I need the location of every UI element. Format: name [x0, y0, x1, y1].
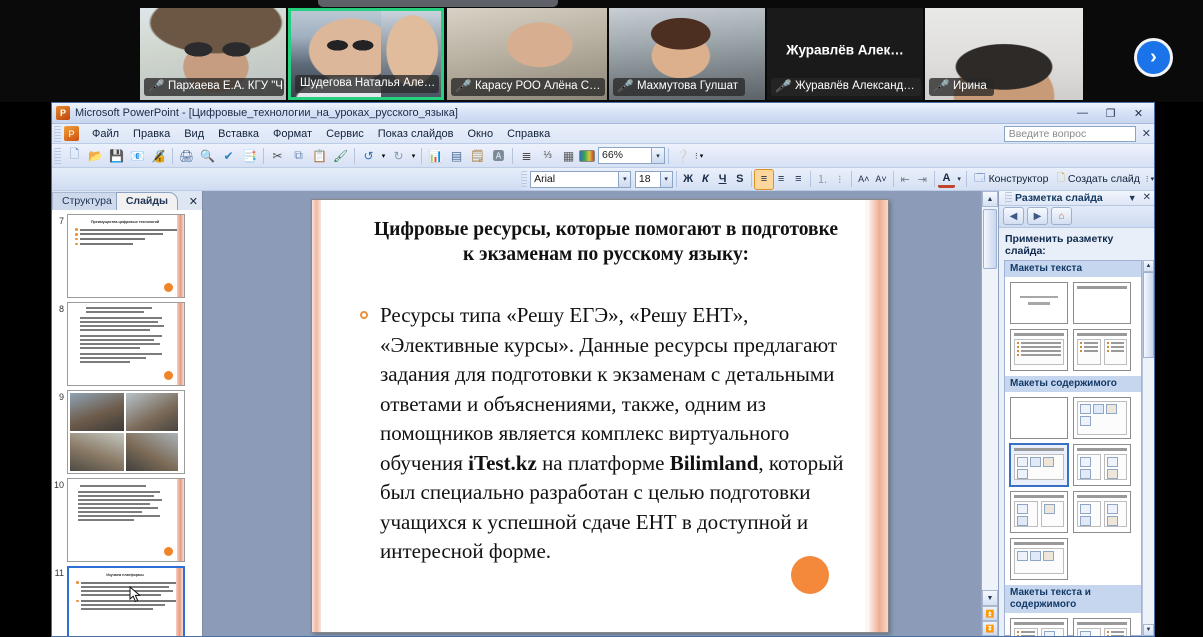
- undo-icon[interactable]: ↺: [358, 146, 379, 166]
- task-pane-scroll-thumb[interactable]: [1143, 272, 1154, 358]
- task-pane-title: Разметка слайда: [1015, 192, 1103, 204]
- participant-nametag-2: Шудегова Наталья Але…: [295, 75, 439, 93]
- thumbnail-bullet-11-2: [76, 600, 176, 603]
- grow-font-icon[interactable]: A˄: [855, 170, 872, 189]
- thumbnail-photo-9-2: [126, 393, 178, 431]
- slide-layout-task-pane: Разметка слайда ▼ ✕ ◀ ▶ ⌂ Применить разм…: [998, 191, 1154, 636]
- mic-muted-icon-3: 🎤: [454, 79, 472, 94]
- editor-body: Структура Слайды ✕ 7 Преимущества цифров…: [52, 191, 1154, 636]
- title-and-content-5-layout[interactable]: [1010, 538, 1068, 580]
- undo-dropdown-icon[interactable]: ▾: [379, 146, 388, 166]
- menu-item-tools[interactable]: Сервис: [319, 126, 371, 142]
- menu-item-slideshow[interactable]: Показ слайдов: [371, 126, 461, 142]
- title-and-content-layout[interactable]: [1010, 444, 1068, 486]
- task-pane-scroll-down[interactable]: ▼: [1143, 624, 1154, 636]
- slide-body-placeholder[interactable]: Ресурсы типа «Решу ЕГЭ», «Решу ЕНТ», «Эл…: [356, 301, 848, 567]
- document-icon: P: [64, 126, 79, 141]
- align-right-icon[interactable]: ≡: [790, 170, 807, 189]
- open-folder-icon[interactable]: 📂: [85, 146, 106, 166]
- design-button-label: Конструктор: [989, 173, 1049, 185]
- menu-item-insert[interactable]: Вставка: [211, 126, 266, 142]
- menu-bar: P Файл Правка Вид Вставка Формат Сервис …: [52, 124, 1154, 144]
- new-slide-button[interactable]: 🗋 Создать слайд: [1052, 169, 1143, 189]
- line-spacing-icon[interactable]: ≣: [516, 146, 537, 166]
- powerpoint-window: P Microsoft PowerPoint - [Цифровые_техно…: [51, 102, 1155, 637]
- tab-outline[interactable]: Структура: [52, 192, 122, 210]
- slide-right-border-decoration: [869, 200, 888, 632]
- forward-icon[interactable]: ▶: [1027, 207, 1048, 225]
- title-and-content-3-layout[interactable]: [1010, 491, 1068, 533]
- slide-body-text: Ресурсы типа «Решу ЕГЭ», «Решу ЕНТ», «Эл…: [356, 301, 848, 567]
- fmt-separator-7: [966, 171, 967, 187]
- menu-drag-handle[interactable]: [54, 126, 61, 142]
- thumbnail-textblock-10: [76, 485, 168, 521]
- design-icon: 🗔: [974, 170, 985, 188]
- font-color-icon[interactable]: A: [938, 171, 955, 188]
- menu-item-edit[interactable]: Правка: [126, 126, 177, 142]
- toolbar-separator-1: [172, 148, 173, 164]
- body-part-4: Bilimland: [670, 451, 759, 475]
- permission-icon[interactable]: 🔏: [148, 146, 169, 166]
- font-name-dropdown-icon[interactable]: ▾: [619, 171, 631, 188]
- thumbnail-textblock-8: [76, 307, 170, 363]
- video-conference-strip: 🎤 Пархаева Е.А. КГУ "Ч… Шудегова Наталья…: [0, 0, 1203, 102]
- bold-button[interactable]: Ж: [680, 170, 697, 189]
- body-part-2: iTest.kz: [468, 451, 537, 475]
- align-left-icon[interactable]: ≡: [755, 170, 772, 189]
- thumbnail-dot-10: [164, 547, 173, 556]
- task-pane-nav: ◀ ▶ ⌂: [999, 206, 1154, 228]
- fmt-separator-2: [751, 171, 752, 187]
- restore-button[interactable]: ❐: [1097, 105, 1124, 122]
- standard-toolbar-handle[interactable]: [54, 148, 61, 164]
- title-and-two-column-layout[interactable]: [1073, 329, 1131, 371]
- thumbnail-number-11: 11: [54, 566, 67, 578]
- thumbnail-photo-9-4: [126, 433, 178, 471]
- participant-name-5: Журавлёв Александ…: [795, 79, 915, 94]
- menu-item-format[interactable]: Формат: [266, 126, 319, 142]
- content-and-text-layout[interactable]: [1073, 618, 1131, 636]
- thumbnail-number-7: 7: [54, 214, 67, 226]
- scroll-thumb[interactable]: [983, 209, 997, 269]
- participant-name-2: Шудегова Наталья Але…: [300, 76, 435, 91]
- thumbnail-number-9: 9: [54, 390, 67, 402]
- research-icon[interactable]: 📑: [239, 146, 260, 166]
- thumbnail-dot-8: [164, 371, 173, 380]
- layout-list[interactable]: Макеты текста: [1004, 260, 1142, 636]
- window-title: Microsoft PowerPoint - [Цифровые_техноло…: [75, 107, 458, 119]
- title-bar[interactable]: P Microsoft PowerPoint - [Цифровые_техно…: [52, 103, 1154, 124]
- bulleted-list-icon[interactable]: ⁝: [831, 170, 848, 189]
- thumbnail-row-10[interactable]: 10: [52, 474, 202, 562]
- formatting-toolbar-spacer: [52, 168, 521, 190]
- close-button[interactable]: ✕: [1125, 105, 1152, 122]
- blank-layout[interactable]: [1010, 397, 1068, 439]
- color-scheme-icon[interactable]: [579, 150, 595, 162]
- paste-icon[interactable]: 📋: [309, 146, 330, 166]
- thumbnail-row-11[interactable]: 11 Изучаем платформы: [52, 562, 202, 636]
- toolbar-separator-5: [512, 148, 513, 164]
- redo-icon[interactable]: ↻: [388, 146, 409, 166]
- toolbar-separator-2: [263, 148, 264, 164]
- fmt-separator-3: [810, 171, 811, 187]
- close-document-button[interactable]: ✕: [1142, 127, 1151, 140]
- body-part-3: на платформе: [537, 451, 670, 475]
- participant-nametag-6: 🎤 Ирина: [929, 78, 994, 96]
- thumbnail-bullet-7-2: [75, 233, 177, 236]
- spelling-check-icon[interactable]: ✔: [218, 146, 239, 166]
- thumbnail-decoration-7: [177, 215, 184, 297]
- thumbnail-decoration-10: [177, 479, 184, 561]
- apply-layout-label: Применить разметку слайда:: [999, 228, 1154, 260]
- help-icon[interactable]: ❔: [672, 146, 693, 166]
- layout-section-title-2: Макеты текста и содержимого: [1005, 585, 1141, 613]
- question-box-wrapper: Введите вопрос ✕: [1004, 126, 1154, 142]
- ask-a-question-input[interactable]: Введите вопрос: [1004, 126, 1136, 142]
- thumbnail-number-8: 8: [54, 302, 67, 314]
- participant-tile-2[interactable]: Шудегова Наталья Але…: [288, 8, 444, 100]
- task-pane-header: Разметка слайда ▼ ✕: [999, 191, 1154, 206]
- task-pane-scroll-region[interactable]: Макеты текста: [999, 260, 1154, 636]
- formatting-toolbar-handle[interactable]: [521, 171, 527, 187]
- text-and-content-layout[interactable]: [1010, 618, 1068, 636]
- slide-left-border-decoration: [312, 200, 321, 632]
- thumbnail-photo-9-3: [70, 433, 124, 471]
- mic-muted-icon-1: 🎤: [147, 79, 165, 94]
- numbered-list-icon[interactable]: ⒈: [814, 170, 831, 189]
- slide-vertical-scrollbar[interactable]: ▲ ▼ ⏫ ⏬: [981, 191, 998, 636]
- format-painter-icon[interactable]: 🖌: [330, 146, 351, 166]
- slide-decoration-dot: [791, 556, 829, 594]
- underline-button[interactable]: Ч: [714, 170, 731, 189]
- thumbnail-row-9[interactable]: 9: [52, 386, 202, 474]
- thumbnail-row-8[interactable]: 8: [52, 298, 202, 386]
- thumbnail-row-7[interactable]: 7 Преимущества цифровых технологий: [52, 210, 202, 298]
- task-pane-scroll-up[interactable]: ▲: [1143, 260, 1154, 272]
- content-layout[interactable]: [1073, 397, 1131, 439]
- slide-thumbnail-9[interactable]: [67, 390, 185, 474]
- previous-slide-button[interactable]: ⏫: [982, 606, 998, 621]
- layout-grid-1: [1005, 392, 1141, 585]
- participant-tile-3[interactable]: 🎤 Карасу РОО Алёна С…: [447, 8, 607, 100]
- participant-nametag-4: 🎤 Махмутова Гулшат: [613, 78, 745, 96]
- shadow-button[interactable]: S: [731, 170, 748, 189]
- design-button[interactable]: 🗔 Конструктор: [970, 169, 1052, 189]
- thumbnail-bullet-7-4: [75, 243, 177, 246]
- thumbnail-bullet-7-3: [75, 238, 177, 241]
- decrease-indent-icon[interactable]: ⇤: [897, 170, 914, 189]
- thumbnail-number-10: 10: [54, 478, 67, 490]
- minimize-button[interactable]: —: [1069, 105, 1096, 122]
- chevron-down-icon[interactable]: ▼: [1128, 193, 1137, 203]
- participant-nametag-3: 🎤 Карасу РОО Алёна С…: [451, 78, 605, 96]
- body-part-1: Ресурсы типа «Решу ЕГЭ», «Решу ЕНТ», «Эл…: [380, 303, 837, 475]
- slide-thumbnail-pane: Структура Слайды ✕ 7 Преимущества цифров…: [52, 191, 203, 636]
- layout-grid-2: [1005, 613, 1141, 636]
- new-slide-button-label: Создать слайд: [1068, 173, 1140, 185]
- participant-name-3: Карасу РОО Алёна С…: [475, 79, 601, 94]
- fmt-separator-4: [851, 171, 852, 187]
- title-and-content-4-layout[interactable]: [1073, 491, 1131, 533]
- standard-toolbar: 🗋 📂 💾 📧 🔏 🖨 🔍 ✔ 📑 ✂ ⧉ 📋 🖌 ↺ ▾ ↻ ▾ 📊 ▤ 🗒 …: [52, 144, 1154, 168]
- meeting-window-handle[interactable]: [318, 0, 558, 7]
- toolbar-separator-6: [668, 148, 669, 164]
- bullet-circle-icon: [360, 311, 368, 319]
- new-slide-icon: 🗋: [1056, 170, 1064, 188]
- task-pane-handle[interactable]: [1005, 192, 1012, 204]
- pane-tabs: Структура Слайды ✕: [52, 191, 202, 210]
- participant-center-name-5: Журавлёв Алек…: [767, 43, 923, 58]
- close-icon[interactable]: ✕: [1143, 192, 1151, 203]
- font-color-dropdown-icon[interactable]: ▾: [955, 170, 963, 189]
- redo-dropdown-icon[interactable]: ▾: [409, 146, 418, 166]
- title-layout[interactable]: [1073, 282, 1131, 324]
- toolbar-separator-3: [354, 148, 355, 164]
- scroll-up-button[interactable]: ▲: [982, 191, 998, 207]
- thumbnail-decoration-8: [177, 303, 184, 385]
- layout-section-title-1: Макеты содержимого: [1005, 376, 1141, 392]
- zoom-input[interactable]: 66%: [598, 147, 652, 164]
- tab-slides[interactable]: Слайды: [116, 192, 178, 210]
- participant-tile-1[interactable]: 🎤 Пархаева Е.А. КГУ "Ч…: [140, 8, 286, 100]
- title-only-layout[interactable]: [1010, 282, 1068, 324]
- insert-table-icon[interactable]: ▤: [446, 146, 467, 166]
- zoom-dropdown-icon[interactable]: ▾: [652, 147, 665, 164]
- increase-indent-icon[interactable]: ⇥: [914, 170, 931, 189]
- align-center-icon[interactable]: ≡: [773, 170, 790, 189]
- next-participants-button[interactable]: ›: [1134, 38, 1173, 77]
- participant-tile-5[interactable]: Журавлёв Алек… 🎤 Журавлёв Александ…: [767, 8, 923, 100]
- window-controls: — ❐ ✕: [1069, 105, 1152, 122]
- slide-thumbnail-8[interactable]: [67, 302, 185, 386]
- thumbnail-dot-7: [164, 283, 173, 292]
- print-preview-icon[interactable]: 🔍: [197, 146, 218, 166]
- mic-muted-icon-4: 🎤: [616, 79, 634, 94]
- thumbnail-title-11: Изучаем платформы: [75, 573, 175, 578]
- cut-icon[interactable]: ✂: [267, 146, 288, 166]
- print-icon[interactable]: 🖨: [176, 146, 197, 166]
- participant-name-6: Ирина: [953, 79, 987, 94]
- layout-grid-0: [1005, 277, 1141, 376]
- menu-item-file[interactable]: Файл: [85, 126, 126, 142]
- copy-icon[interactable]: ⧉: [288, 146, 309, 166]
- mic-muted-icon-5: 🎤: [774, 79, 792, 94]
- participant-nametag-1: 🎤 Пархаева Е.А. КГУ "Ч…: [144, 78, 284, 96]
- save-icon[interactable]: 💾: [106, 146, 127, 166]
- menu-item-view[interactable]: Вид: [177, 126, 211, 142]
- insert-wordart-icon[interactable]: 🅰: [488, 146, 509, 166]
- grid-icon[interactable]: ▦: [558, 146, 579, 166]
- participant-tile-4[interactable]: 🎤 Махмутова Гулшат: [609, 8, 765, 100]
- shrink-font-icon[interactable]: A˅: [872, 170, 889, 189]
- slide-title[interactable]: Цифровые ресурсы, которые помогают в под…: [368, 217, 844, 267]
- toolbar-overflow-icon[interactable]: ⋮▾: [693, 146, 703, 166]
- home-icon[interactable]: ⌂: [1051, 207, 1072, 225]
- slide-thumbnail-7[interactable]: Преимущества цифровых технологий: [67, 214, 185, 298]
- participant-tile-6[interactable]: 🎤 Ирина: [925, 8, 1083, 100]
- task-pane-scrollbar[interactable]: ▲ ▼: [1142, 260, 1154, 636]
- scroll-down-button[interactable]: ▼: [982, 590, 998, 606]
- fmt-separator-5: [893, 171, 894, 187]
- fmt-separator-6: [934, 171, 935, 187]
- font-size-input[interactable]: 18: [635, 171, 661, 188]
- thumbnail-photo-9-1: [70, 393, 124, 431]
- insert-textbox-icon[interactable]: 🗒: [467, 146, 488, 166]
- thumbnail-bullet-11-1: [76, 581, 176, 584]
- thumbnail-decoration-11: [176, 568, 183, 636]
- slide-thumbnail-11[interactable]: Изучаем платформы: [67, 566, 185, 636]
- next-slide-button[interactable]: ⏬: [982, 621, 998, 636]
- font-size-dropdown-icon[interactable]: ▾: [661, 171, 673, 188]
- thumbnail-list[interactable]: 7 Преимущества цифровых технологий 8: [52, 210, 202, 636]
- fmt-separator-1: [676, 171, 677, 187]
- show-formatting-icon[interactable]: ⅓: [537, 146, 558, 166]
- slide-thumbnail-10[interactable]: [67, 478, 185, 562]
- layout-section-title-0: Макеты текста: [1005, 261, 1141, 277]
- slide-editing-area[interactable]: Цифровые ресурсы, которые помогают в под…: [203, 191, 998, 636]
- menu-item-help[interactable]: Справка: [500, 126, 557, 142]
- scroll-track[interactable]: [982, 207, 998, 590]
- current-slide[interactable]: Цифровые ресурсы, которые помогают в под…: [311, 199, 889, 633]
- font-name-input[interactable]: Arial: [530, 171, 619, 188]
- thumbnail-title-7: Преимущества цифровых технологий: [74, 220, 176, 225]
- formatting-overflow-icon[interactable]: ⋮▾: [1144, 170, 1154, 189]
- participant-name-4: Махмутова Гулшат: [637, 79, 738, 94]
- mail-icon[interactable]: 📧: [127, 146, 148, 166]
- participant-name-1: Пархаева Е.А. КГУ "Ч…: [168, 79, 284, 94]
- powerpoint-icon: P: [56, 106, 70, 120]
- participant-nametag-5: 🎤 Журавлёв Александ…: [771, 78, 921, 96]
- formatting-toolbar: Arial ▾ 18 ▾ Ж К Ч S ≡ ≡ ≡ ⒈ ⁝ A˄ A˅ ⇤ ⇥…: [52, 168, 1154, 191]
- italic-button[interactable]: К: [697, 170, 714, 189]
- insert-chart-icon[interactable]: 📊: [425, 146, 446, 166]
- thumbnail-bullet-7-1: [75, 228, 177, 231]
- mic-muted-icon-6: 🎤: [932, 79, 950, 94]
- new-document-icon[interactable]: 🗋: [64, 146, 85, 166]
- close-pane-icon[interactable]: ✕: [189, 195, 198, 208]
- title-and-two-content-layout[interactable]: [1073, 444, 1131, 486]
- toolbar-separator-4: [421, 148, 422, 164]
- back-icon[interactable]: ◀: [1003, 207, 1024, 225]
- task-pane-scroll-track[interactable]: [1143, 272, 1154, 624]
- menu-item-window[interactable]: Окно: [461, 126, 501, 142]
- title-and-text-layout[interactable]: [1010, 329, 1068, 371]
